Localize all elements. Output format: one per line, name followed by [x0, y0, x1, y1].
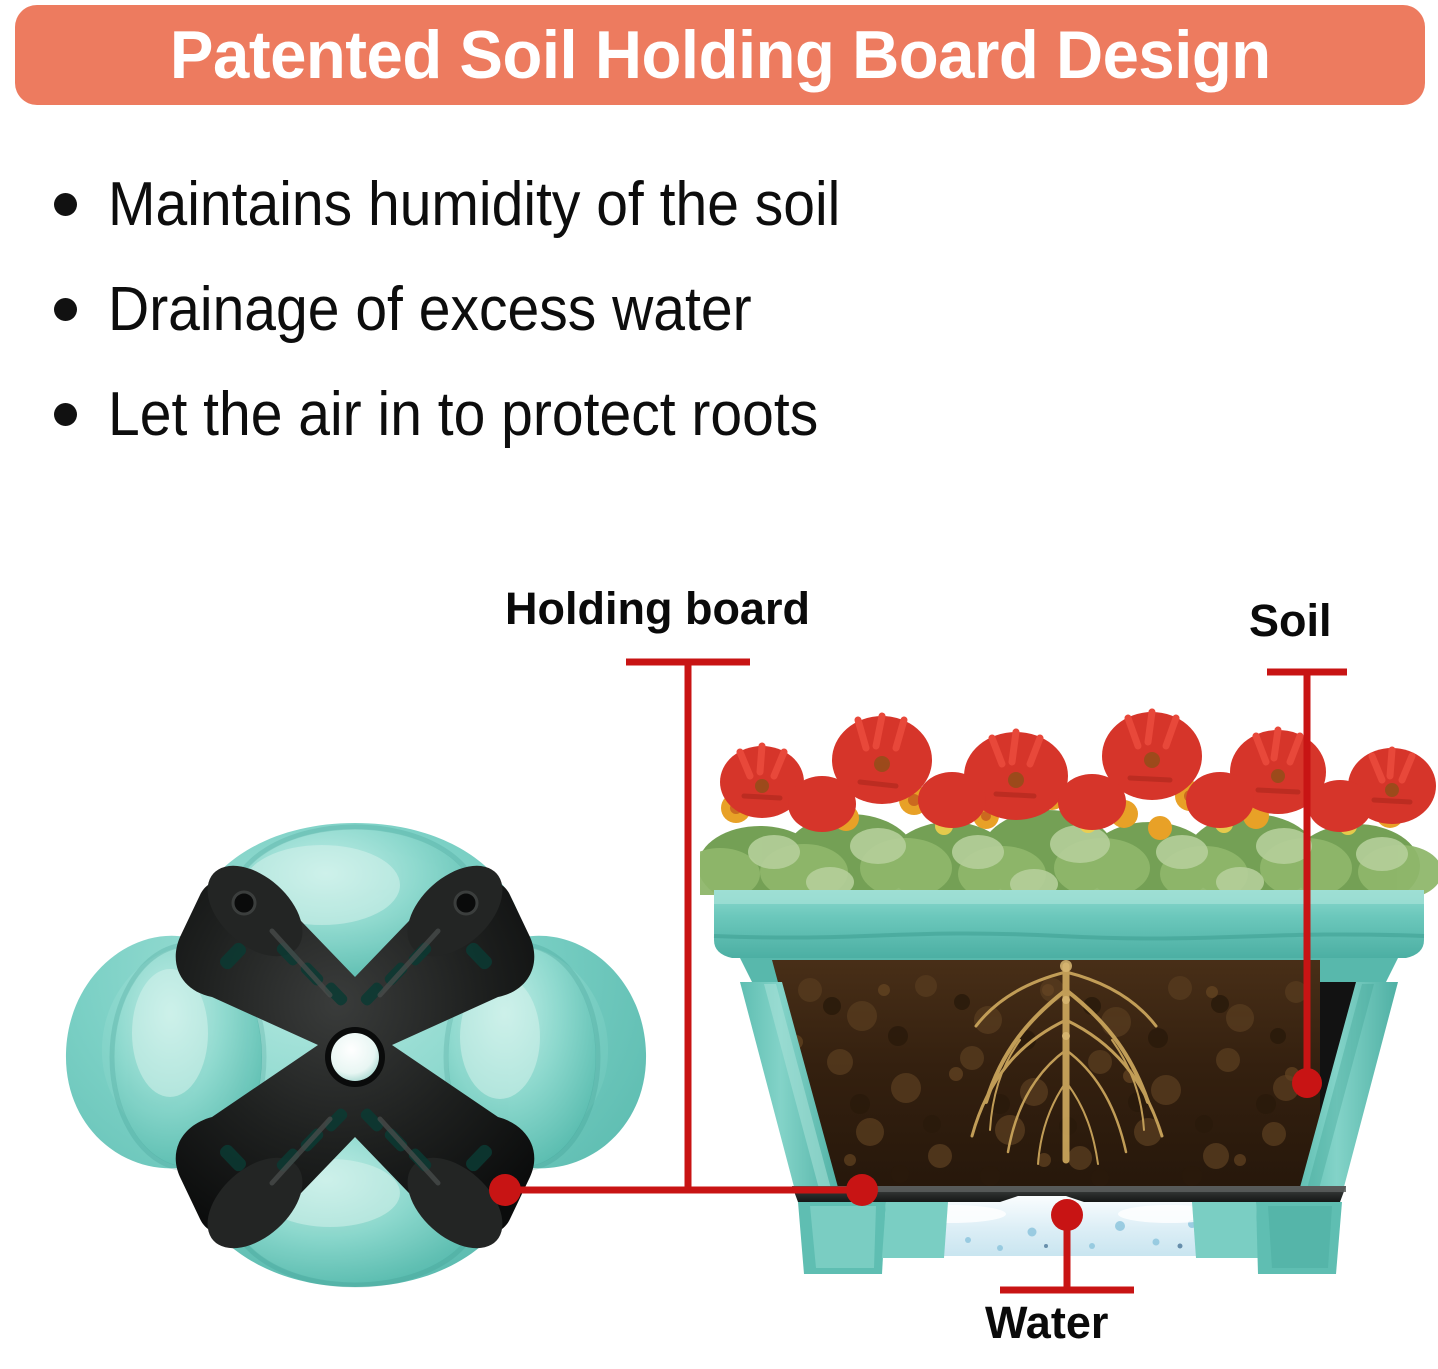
callout-label-water: Water [985, 1300, 1108, 1345]
list-item: Let the air in to protect roots [40, 362, 1140, 467]
drainage-hole [325, 1027, 385, 1087]
feature-text: Let the air in to protect roots [108, 384, 818, 446]
chrysanthemum-plants [700, 712, 1438, 908]
feature-text: Maintains humidity of the soil [108, 174, 840, 236]
bullet-dot-icon [54, 298, 77, 321]
planter-cross-section [700, 690, 1438, 1280]
red-flower [720, 712, 1436, 832]
feature-list: Maintains humidity of the soil Drainage … [40, 152, 1140, 467]
header-banner: Patented Soil Holding Board Design [15, 5, 1425, 105]
clover-planter-top-view [30, 745, 680, 1355]
callout-label-holding-board: Holding board [505, 586, 810, 631]
bullet-dot-icon [54, 403, 77, 426]
callout-label-soil: Soil [1249, 598, 1332, 643]
bullet-dot-icon [54, 193, 77, 216]
list-item: Drainage of excess water [40, 257, 1140, 362]
pot-body [740, 950, 1398, 1210]
soil-mass [760, 950, 1320, 1210]
page-title: Patented Soil Holding Board Design [170, 21, 1271, 89]
list-item: Maintains humidity of the soil [40, 152, 1140, 257]
feature-text: Drainage of excess water [108, 279, 752, 341]
